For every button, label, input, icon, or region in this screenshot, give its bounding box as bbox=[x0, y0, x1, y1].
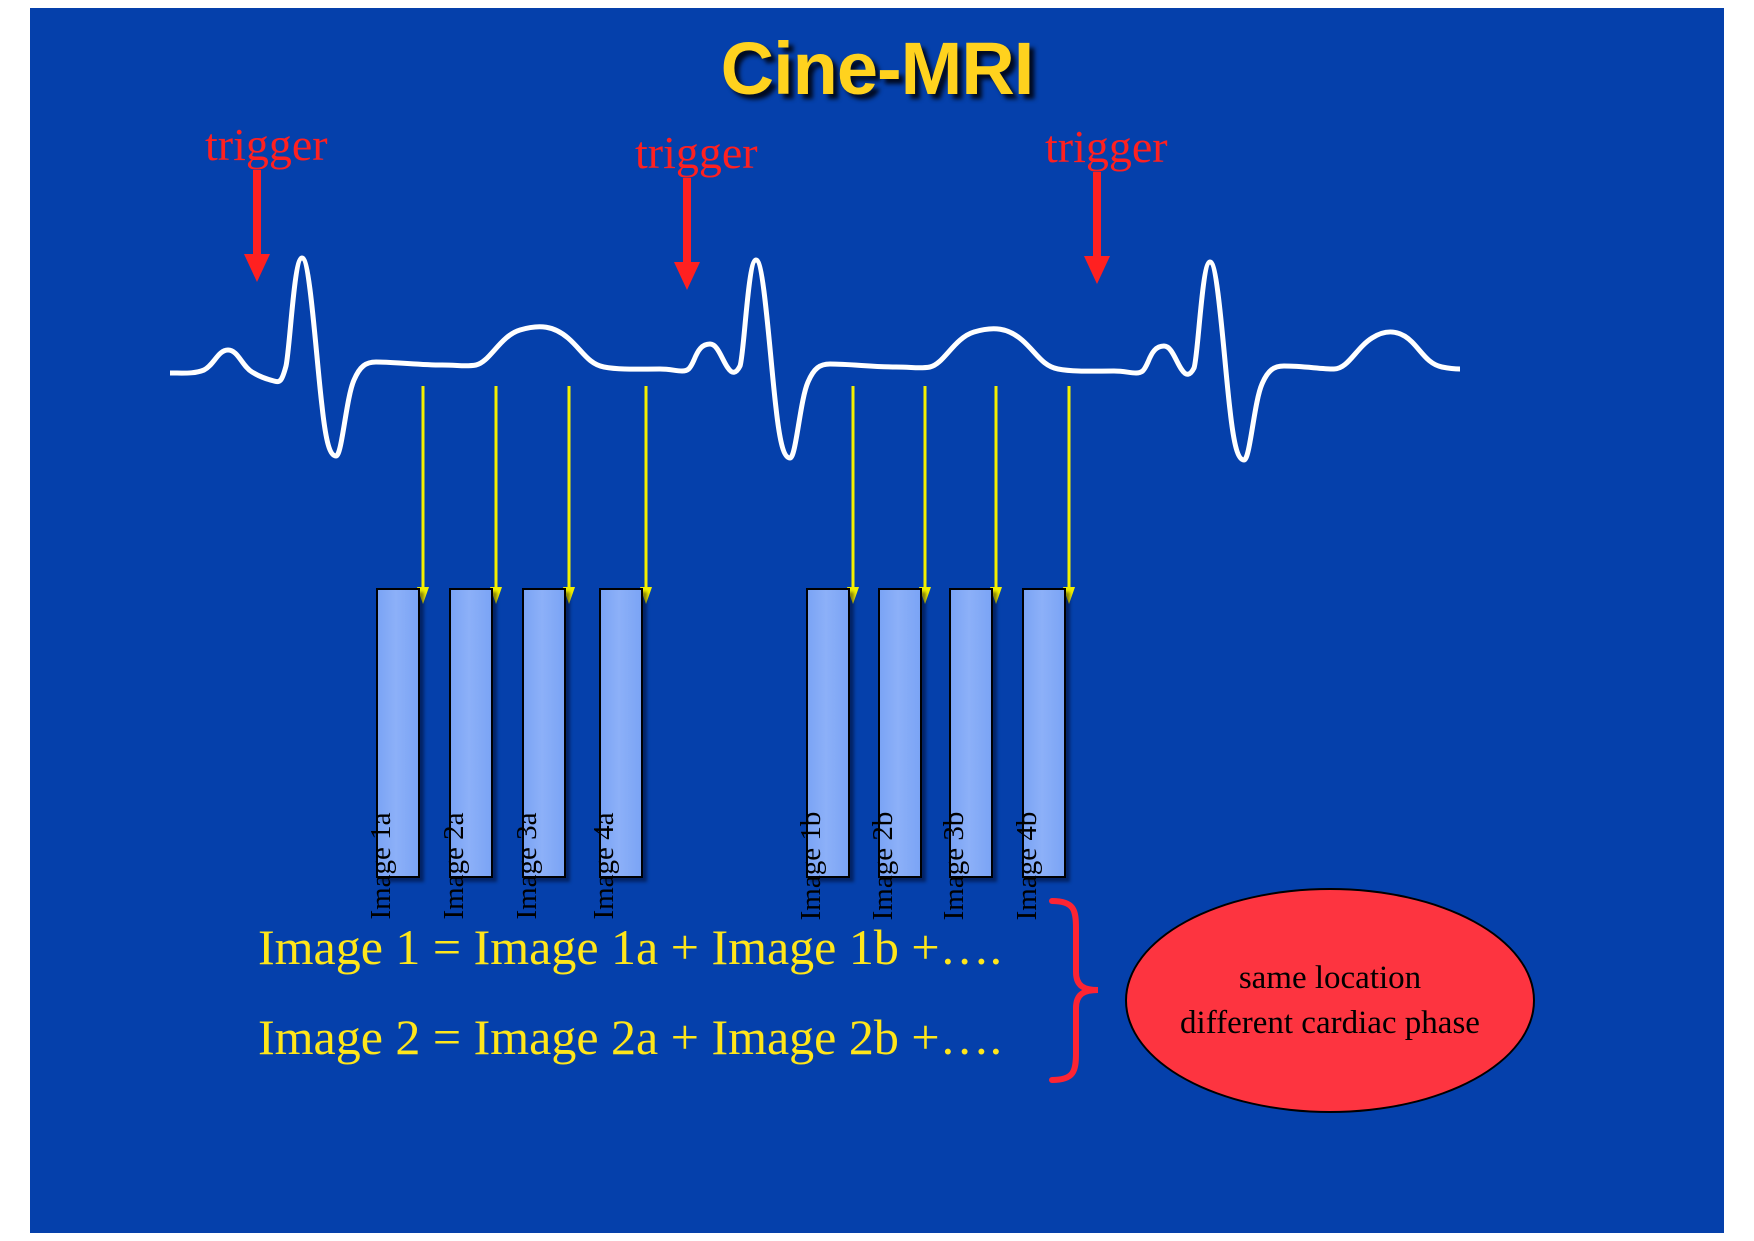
image-box-label-4a: Image 4a bbox=[588, 812, 621, 919]
image-box-3a[interactable]: Image 3a bbox=[522, 588, 566, 878]
yellow-arrow-icon-4a bbox=[635, 386, 657, 606]
image-box-2a[interactable]: Image 2a bbox=[449, 588, 493, 878]
ecg-waveform bbox=[170, 238, 1460, 478]
curly-brace-icon bbox=[1040, 898, 1110, 1083]
yellow-arrow-icon-2b bbox=[914, 386, 936, 606]
image-box-4a[interactable]: Image 4a bbox=[599, 588, 643, 878]
image-box-label-2b: Image 2b bbox=[867, 812, 900, 921]
callout-line-2: different cardiac phase bbox=[1180, 1001, 1480, 1046]
trigger-label-1: trigger bbox=[205, 118, 328, 171]
image-box-1b[interactable]: Image 1b bbox=[806, 588, 850, 878]
yellow-arrow-icon-4b bbox=[1058, 386, 1080, 606]
equation-image-2: Image 2 = Image 2a + Image 2b +…. bbox=[258, 1008, 1002, 1066]
image-box-4b[interactable]: Image 4b bbox=[1022, 588, 1066, 878]
callout-line-1: same location bbox=[1239, 956, 1421, 1001]
page-title: Cine-MRI bbox=[30, 26, 1724, 111]
image-box-label-3a: Image 3a bbox=[511, 812, 544, 919]
image-box-label-1a: Image 1a bbox=[365, 812, 398, 919]
image-box-label-2a: Image 2a bbox=[438, 812, 471, 919]
yellow-arrow-icon-2a bbox=[485, 386, 507, 606]
yellow-arrow-icon-3a bbox=[558, 386, 580, 606]
image-box-label-1b: Image 1b bbox=[795, 812, 828, 921]
image-box-3b[interactable]: Image 3b bbox=[949, 588, 993, 878]
slide-root: Cine-MRI trigger trigger trigger bbox=[0, 0, 1754, 1241]
yellow-arrow-icon-3b bbox=[985, 386, 1007, 606]
image-box-2b[interactable]: Image 2b bbox=[878, 588, 922, 878]
yellow-arrow-icon-1a bbox=[412, 386, 434, 606]
image-box-label-3b: Image 3b bbox=[938, 812, 971, 921]
yellow-arrow-icon-1b bbox=[842, 386, 864, 606]
trigger-label-2: trigger bbox=[635, 126, 758, 179]
slide-canvas: Cine-MRI trigger trigger trigger bbox=[30, 8, 1724, 1233]
trigger-label-3: trigger bbox=[1045, 120, 1168, 173]
callout-ellipse[interactable]: same location different cardiac phase bbox=[1125, 888, 1535, 1113]
image-box-1a[interactable]: Image 1a bbox=[376, 588, 420, 878]
equation-image-1: Image 1 = Image 1a + Image 1b +…. bbox=[258, 918, 1002, 976]
